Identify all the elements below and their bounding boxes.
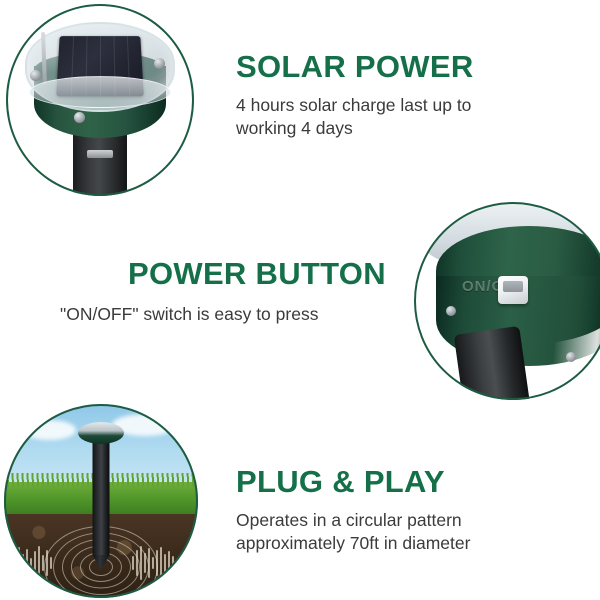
solar-power-ring xyxy=(6,4,194,196)
solar-power-description-line-1: 4 hours solar charge last up to xyxy=(236,94,586,117)
plug-and-play-description: Operates in a circular pattern approxima… xyxy=(236,509,591,555)
power-button-description-line-1: "ON/OFF" switch is easy to press xyxy=(60,303,420,326)
plug-and-play-description-line-2: approximately 70ft in diameter xyxy=(236,532,591,555)
power-button-description: "ON/OFF" switch is easy to press xyxy=(60,303,420,326)
solar-power-title: SOLAR POWER xyxy=(236,51,474,82)
plug-and-play-description-line-1: Operates in a circular pattern xyxy=(236,509,591,532)
plug-and-play-ring xyxy=(4,404,198,598)
plug-and-play-title: PLUG & PLAY xyxy=(236,466,445,497)
solar-power-description: 4 hours solar charge last up to working … xyxy=(236,94,586,140)
power-button-ring xyxy=(414,202,600,400)
power-button-title: POWER BUTTON xyxy=(128,258,386,289)
product-feature-infographic: SOLAR POWER 4 hours solar charge last up… xyxy=(0,0,600,600)
solar-power-description-line-2: working 4 days xyxy=(236,117,586,140)
